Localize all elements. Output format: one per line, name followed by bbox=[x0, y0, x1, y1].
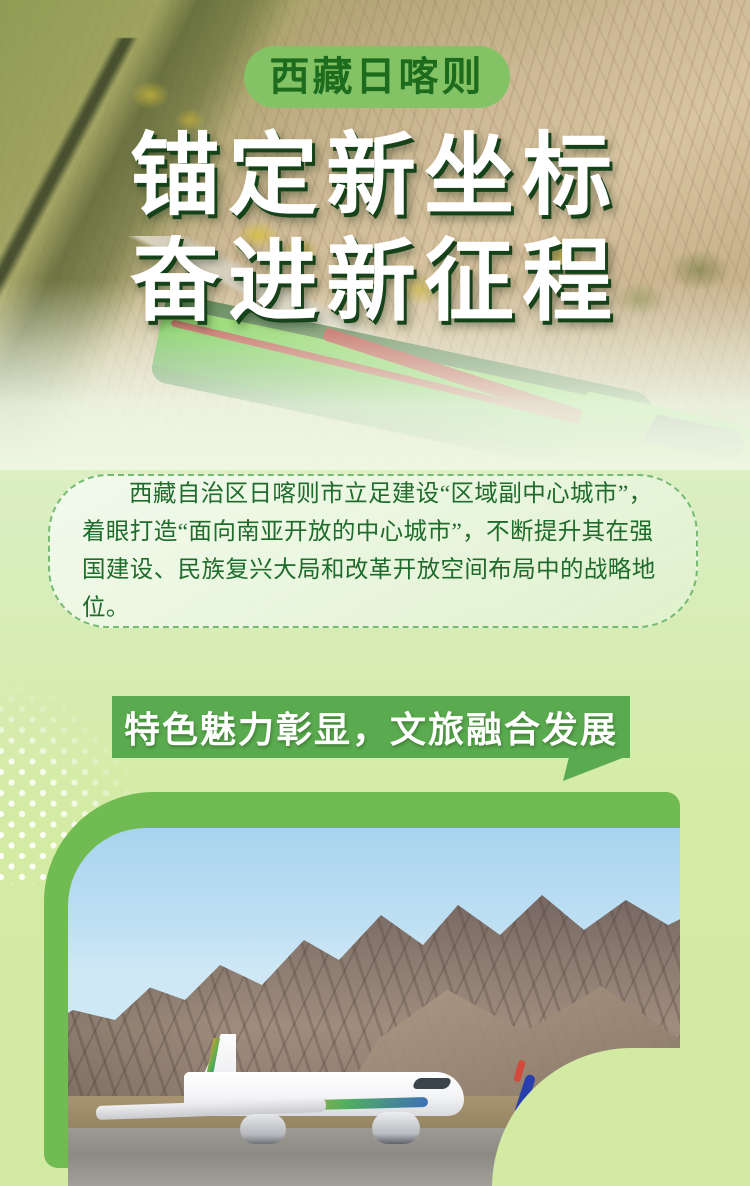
intro-note-paragraph: 西藏自治区日喀则市立足建设“区域副中心城市”，着眼打造“面向南亚开放的中心城市”… bbox=[50, 475, 696, 627]
bottom-photo bbox=[68, 828, 680, 1186]
page-title-line-1: 锚定新坐标 bbox=[0, 124, 750, 230]
region-badge: 西藏日喀则 bbox=[244, 46, 510, 108]
airplane-engine-right bbox=[372, 1112, 420, 1144]
page-title-line-2: 奋进新征程 bbox=[0, 230, 750, 336]
airplane bbox=[174, 1032, 484, 1142]
region-badge-label: 西藏日喀则 bbox=[270, 57, 485, 97]
page-title: 锚定新坐标 奋进新征程 bbox=[0, 124, 750, 336]
intro-note-box: 西藏自治区日喀则市立足建设“区域副中心城市”，着眼打造“面向南亚开放的中心城市”… bbox=[48, 474, 698, 628]
airplane-engine-left bbox=[240, 1114, 286, 1144]
airplane-cockpit-window bbox=[412, 1078, 452, 1089]
section-banner: 特色魅力彰显，文旅融合发展 bbox=[112, 696, 630, 758]
poster-root: 西藏日喀则 锚定新坐标 奋进新征程 西藏自治区日喀则市立足建设“区域副中心城市”… bbox=[0, 0, 750, 1186]
section-banner-tail-icon bbox=[563, 757, 625, 781]
section-banner-label: 特色魅力彰显，文旅融合发展 bbox=[124, 701, 618, 753]
